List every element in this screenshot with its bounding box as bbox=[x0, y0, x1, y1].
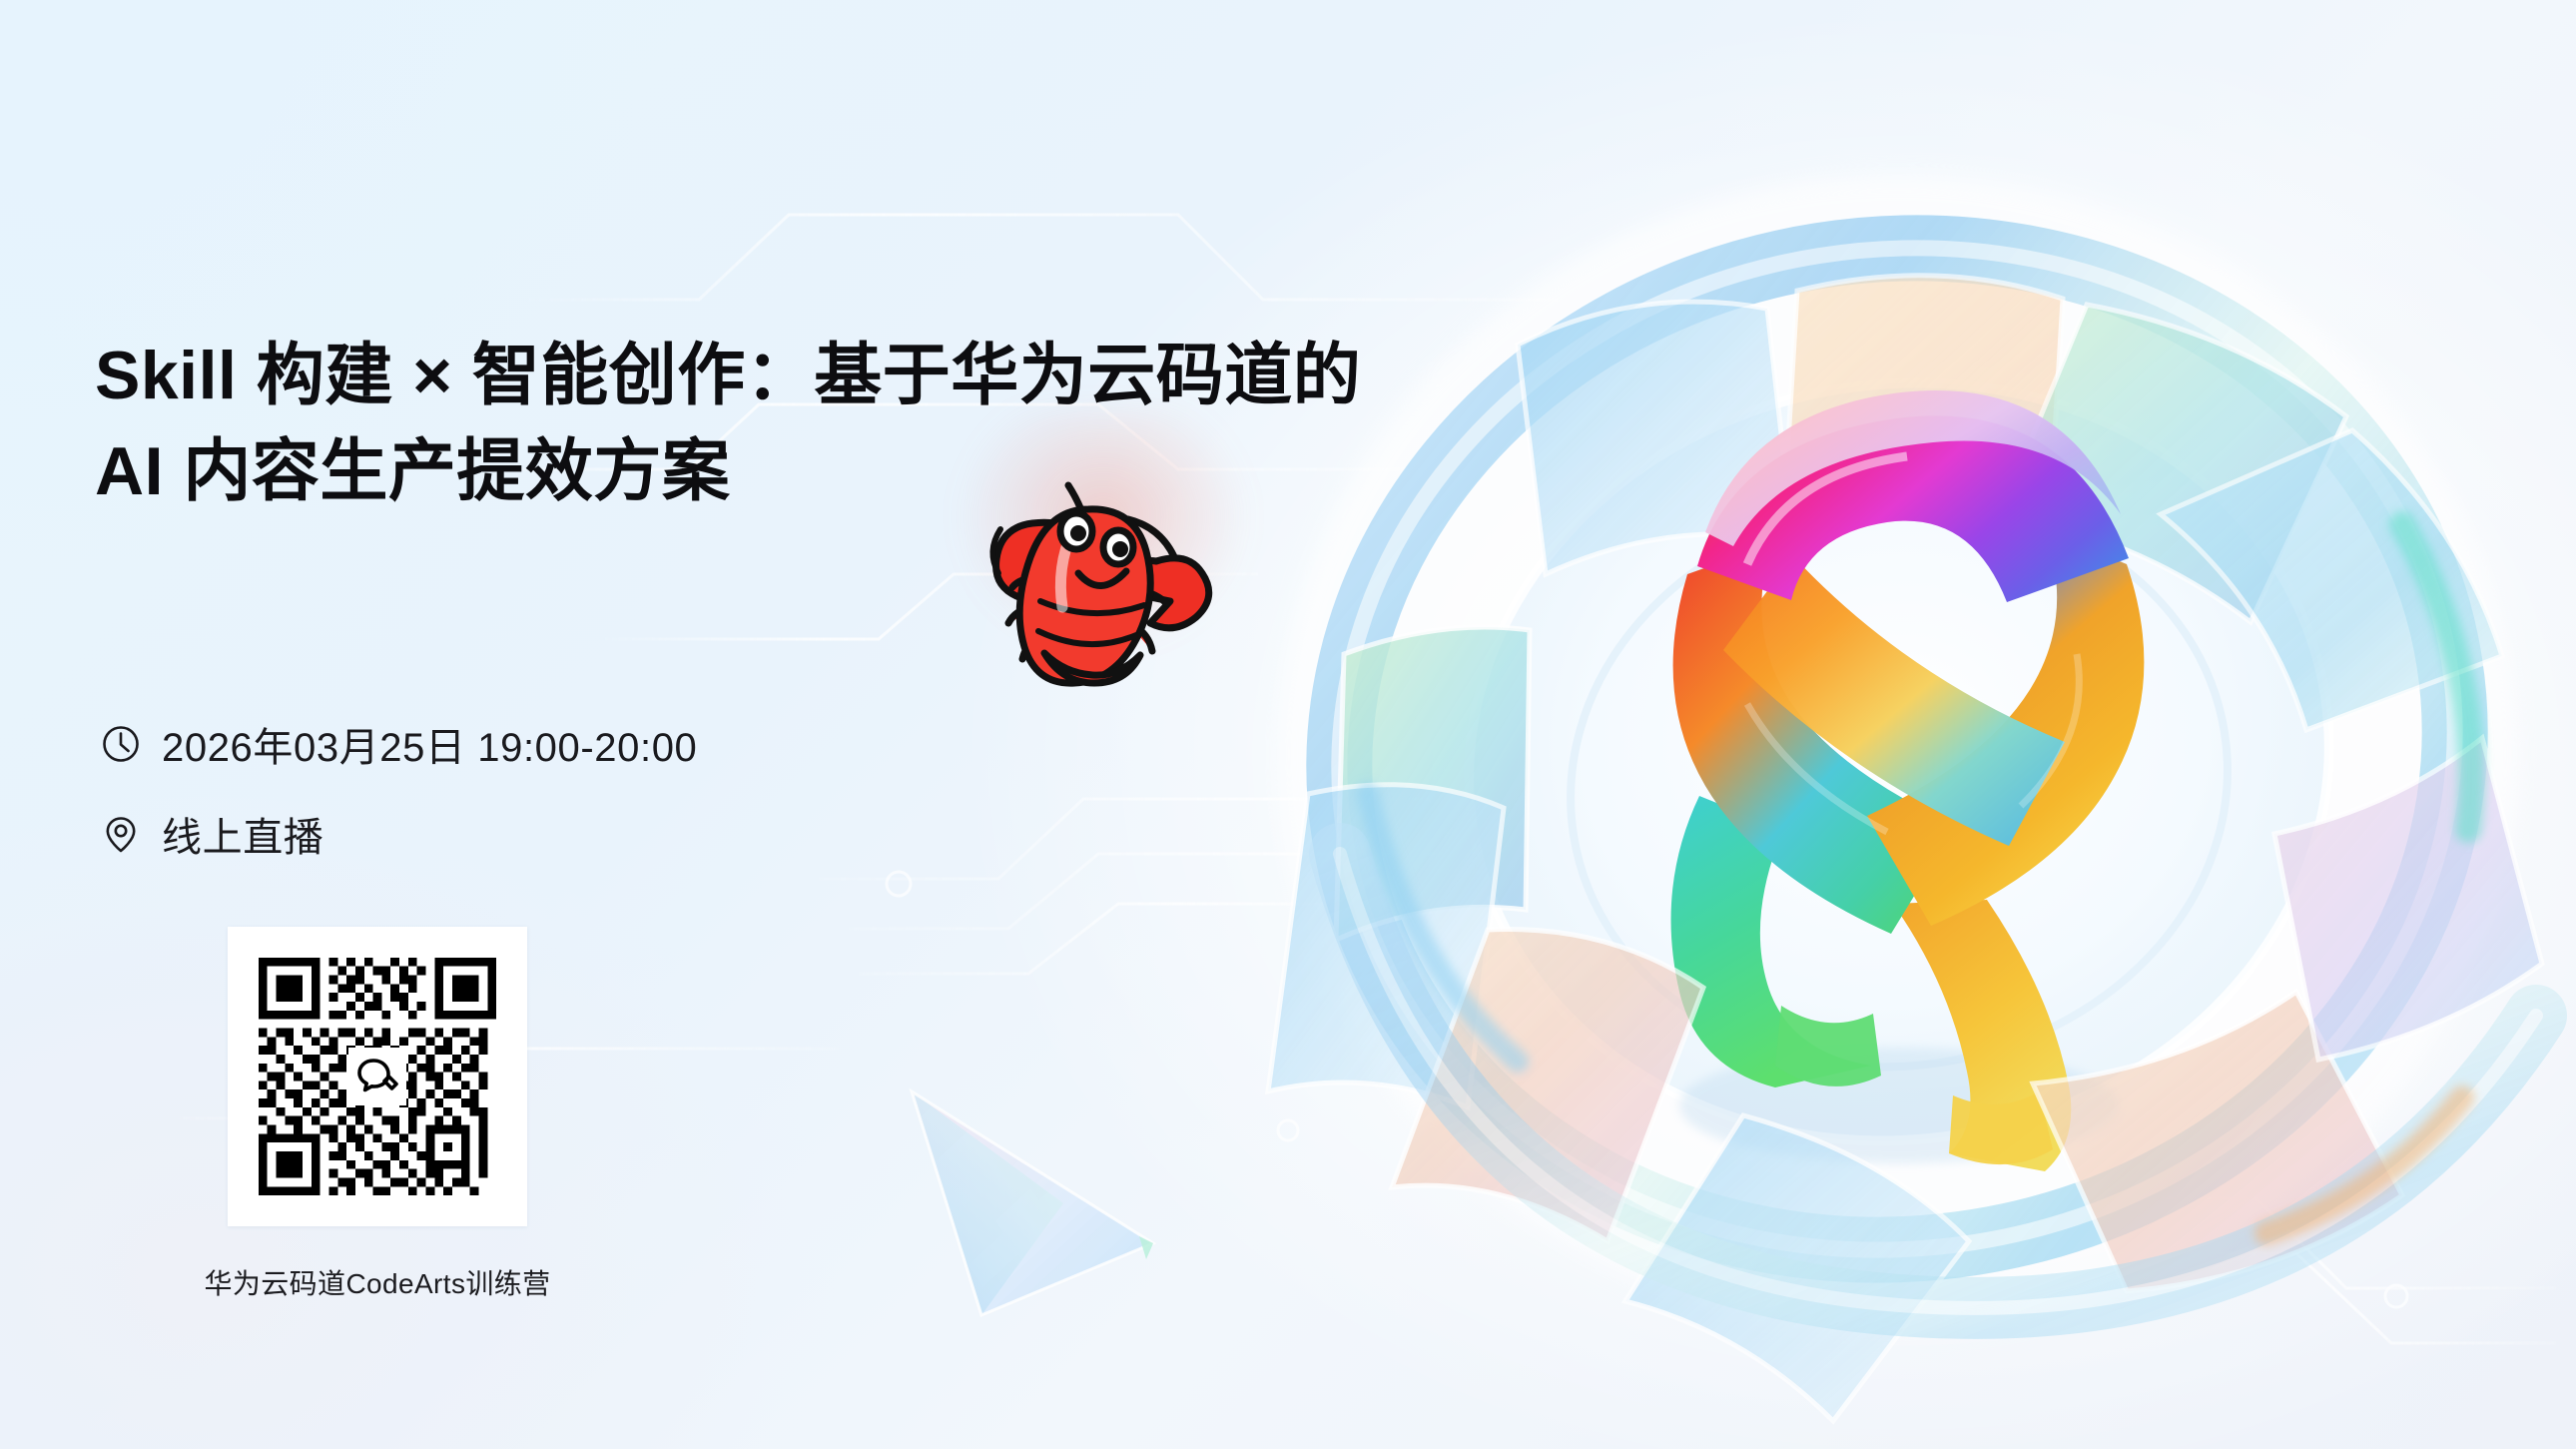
title-line-1: Skill 构建 × 智能创作：基于华为云码道的 bbox=[95, 328, 1233, 424]
title-line-2: AI 内容生产提效方案 bbox=[95, 423, 1233, 520]
event-meta: 2026年03月25日 19:00-20:00 线上直播 bbox=[100, 713, 697, 893]
webinar-banner: Skill 构建 × 智能创作：基于华为云码道的 AI 内容生产提效方案 202… bbox=[0, 0, 2576, 1449]
qr-caption: 华为云码道CodeArts训练营 bbox=[156, 1262, 599, 1302]
event-datetime-row: 2026年03月25日 19:00-20:00 bbox=[100, 713, 697, 775]
qr-code-card[interactable] bbox=[228, 927, 527, 1226]
page-title: Skill 构建 × 智能创作：基于华为云码道的 AI 内容生产提效方案 bbox=[95, 328, 1233, 520]
event-location-row: 线上直播 bbox=[100, 803, 697, 865]
wechat-channels-icon bbox=[348, 1048, 406, 1105]
event-location-text: 线上直播 bbox=[162, 805, 323, 863]
location-pin-icon bbox=[100, 813, 142, 855]
content-column: Skill 构建 × 智能创作：基于华为云码道的 AI 内容生产提效方案 202… bbox=[0, 0, 1198, 1449]
qr-block: 华为云码道CodeArts训练营 bbox=[228, 927, 527, 1226]
event-datetime-text: 2026年03月25日 19:00-20:00 bbox=[162, 715, 697, 773]
clock-icon bbox=[100, 723, 142, 765]
